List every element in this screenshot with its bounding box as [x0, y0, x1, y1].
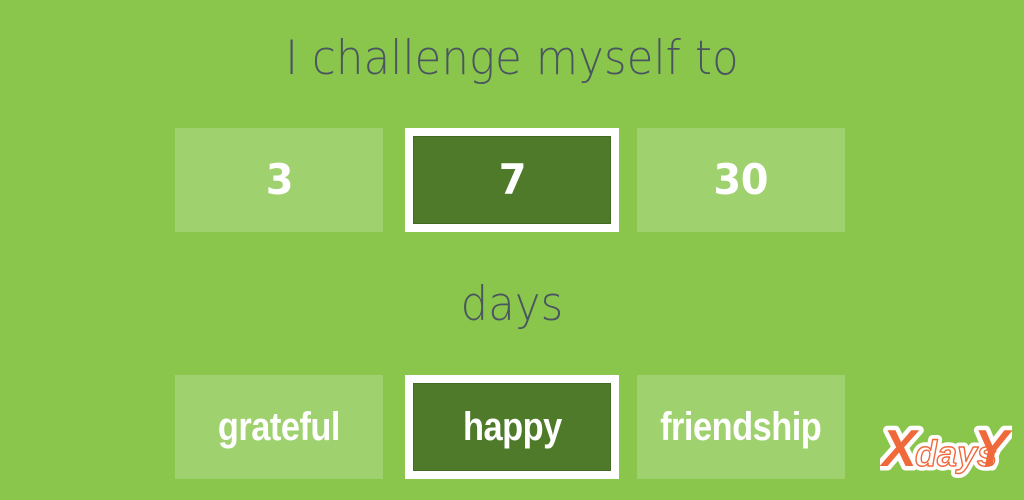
topic-option-label: happy: [463, 407, 562, 447]
logo-x-letter: X: [880, 420, 920, 478]
duration-option-3[interactable]: 3: [175, 128, 383, 232]
duration-option-label: 7: [498, 159, 525, 201]
topic-option-friendship[interactable]: friendship: [637, 375, 845, 479]
page-title: I challenge myself to: [41, 28, 983, 90]
xdaysy-logo: X days Y X days Y: [880, 418, 1012, 484]
topic-option-label: friendship: [660, 407, 821, 447]
topic-option-happy-selected[interactable]: happy: [405, 375, 619, 479]
duration-option-label: 30: [714, 159, 769, 201]
duration-options-row: 3 7 30: [0, 128, 1024, 232]
xdaysy-logo-icon: X days Y X days Y: [880, 418, 1012, 484]
duration-unit-label: days: [41, 274, 983, 336]
duration-option-30[interactable]: 30: [637, 128, 845, 232]
duration-option-7-selected[interactable]: 7: [405, 128, 619, 232]
logo-y-letter: Y: [974, 420, 1012, 478]
topic-options-row: grateful happy friendship: [0, 375, 1024, 479]
duration-option-label: 3: [265, 159, 292, 201]
topic-option-label: grateful: [218, 407, 340, 447]
topic-option-grateful[interactable]: grateful: [175, 375, 383, 479]
app-screen: I challenge myself to 3 7 30 days gratef…: [0, 0, 1024, 500]
